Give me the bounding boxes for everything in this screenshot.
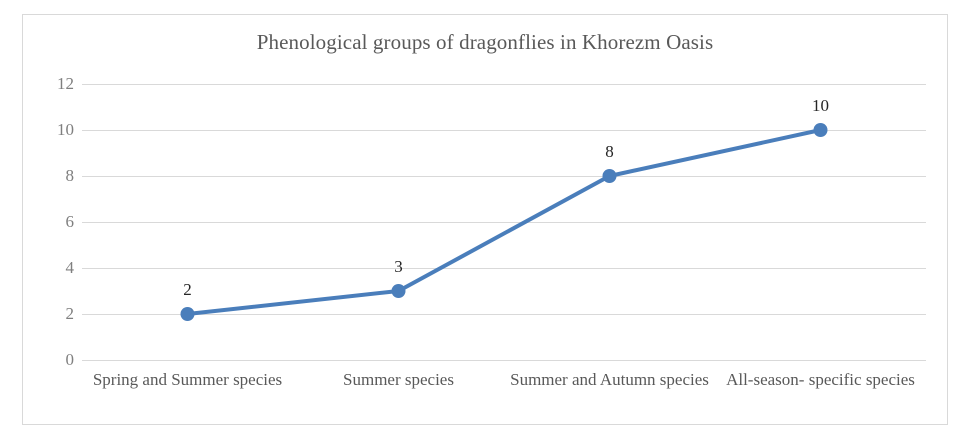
- y-axis-tick-label: 6: [34, 212, 74, 232]
- y-axis-tick-label: 2: [34, 304, 74, 324]
- data-point-marker[interactable]: [603, 169, 617, 183]
- y-axis-tick-label: 0: [34, 350, 74, 370]
- data-point-marker[interactable]: [814, 123, 828, 137]
- plot-area: 23810: [82, 84, 926, 360]
- series-markers: [181, 123, 828, 321]
- data-point-marker[interactable]: [392, 284, 406, 298]
- x-axis-tick-label: Summer species: [343, 370, 454, 390]
- x-axis: Spring and Summer speciesSummer speciesS…: [82, 370, 926, 398]
- chart-container: Phenological groups of dragonflies in Kh…: [0, 0, 969, 442]
- data-point-marker[interactable]: [181, 307, 195, 321]
- y-axis: 121086420: [30, 84, 74, 360]
- data-point-label: 3: [394, 257, 403, 277]
- series-line: [188, 130, 821, 314]
- x-axis-tick-label: Summer and Autumn species: [510, 370, 709, 390]
- data-point-label: 8: [605, 142, 614, 162]
- line-series: [82, 84, 926, 360]
- gridline: [82, 360, 926, 361]
- x-axis-tick-label: Spring and Summer species: [93, 370, 282, 390]
- chart-title: Phenological groups of dragonflies in Kh…: [22, 30, 948, 55]
- y-axis-tick-label: 4: [34, 258, 74, 278]
- y-axis-tick-label: 12: [34, 74, 74, 94]
- data-point-label: 10: [812, 96, 829, 116]
- y-axis-tick-label: 8: [34, 166, 74, 186]
- x-axis-tick-label: All-season- specific species: [726, 370, 915, 390]
- data-point-label: 2: [183, 280, 192, 300]
- y-axis-tick-label: 10: [34, 120, 74, 140]
